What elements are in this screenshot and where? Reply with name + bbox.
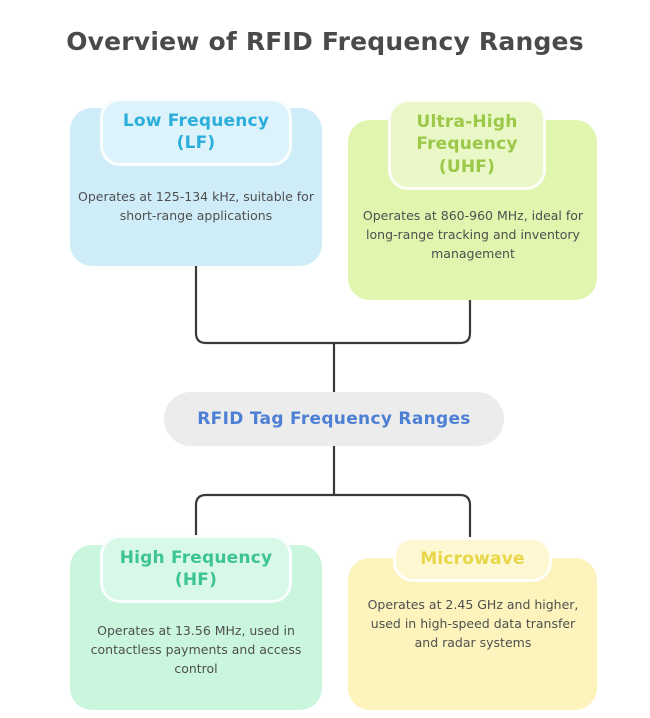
card-low-frequency-description: Operates at 125-134 kHz, suitable for sh… xyxy=(78,188,314,254)
card-high-frequency-title-line2: (HF) xyxy=(175,570,217,590)
card-ultra-high-frequency-title-line3: (UHF) xyxy=(439,157,495,177)
card-microwave-title-line1: Microwave xyxy=(420,548,524,570)
card-low-frequency-title-line1: Low Frequency xyxy=(123,111,269,131)
page-title: Overview of RFID Frequency Ranges xyxy=(0,27,650,56)
card-low-frequency-title-line2: (LF) xyxy=(177,133,216,153)
card-high-frequency-header: High Frequency (HF) xyxy=(100,535,292,603)
card-ultra-high-frequency-header: Ultra-High Frequency (UHF) xyxy=(388,99,546,190)
card-low-frequency-header: Low Frequency (LF) xyxy=(100,98,292,166)
card-ultra-high-frequency-description: Operates at 860-960 MHz, ideal for long-… xyxy=(358,207,588,291)
card-microwave-description: Operates at 2.45 GHz and higher, used in… xyxy=(358,596,588,680)
card-high-frequency-title-line1: High Frequency xyxy=(120,548,273,568)
diagram-canvas: Overview of RFID Frequency Ranges Low Fr… xyxy=(0,0,650,718)
card-high-frequency-description: Operates at 13.56 MHz, used in contactle… xyxy=(78,622,314,706)
card-microwave-header: Microwave xyxy=(393,537,552,582)
card-ultra-high-frequency-title-line2: Frequency xyxy=(416,134,517,154)
center-node-rfid-tag-frequency-ranges[interactable]: RFID Tag Frequency Ranges xyxy=(164,392,504,446)
card-ultra-high-frequency-title-line1: Ultra-High xyxy=(417,112,518,132)
